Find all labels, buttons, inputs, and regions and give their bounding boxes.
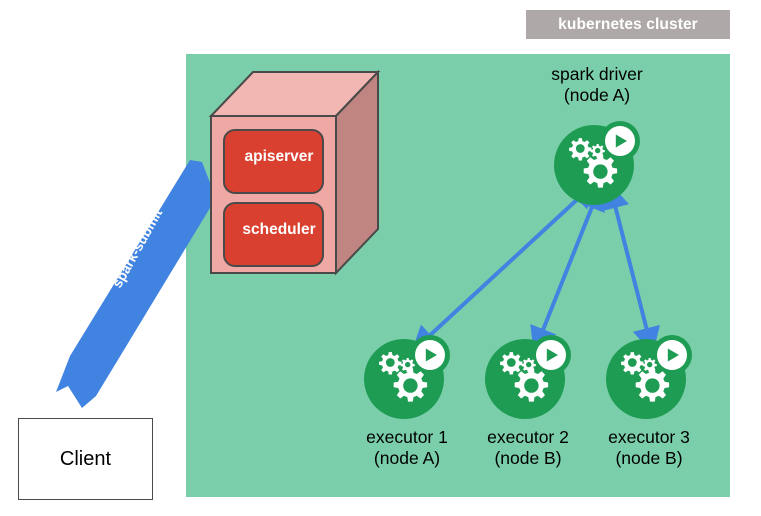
client-label: Client [60,448,111,471]
executor-3-caption: executor 3 (node B) [569,427,729,469]
kubernetes-cluster-title-chip: kubernetes cluster [526,10,730,39]
spark-submit-arrow [54,160,224,410]
scheduler-label: scheduler [211,221,347,239]
client-box: Client [18,418,153,500]
spark-driver-title: spark driver [517,64,677,85]
spark-driver-icon [554,119,640,205]
executor-3-icon [606,333,692,419]
executor-1-icon [364,333,450,419]
spark-driver-subtitle: (node A) [517,85,677,106]
executor-2-icon [485,333,571,419]
apiserver-label: apiserver [211,148,347,166]
kubernetes-cluster-title-label: kubernetes cluster [558,16,698,34]
connector-driver-executor-3 [610,186,652,350]
connector-driver-executor-2 [535,187,600,350]
kubernetes-control-plane-cube [205,66,385,281]
executor-3-subtitle: (node B) [569,448,729,469]
spark-driver-caption: spark driver (node A) [517,64,677,106]
executor-3-title: executor 3 [569,427,729,448]
